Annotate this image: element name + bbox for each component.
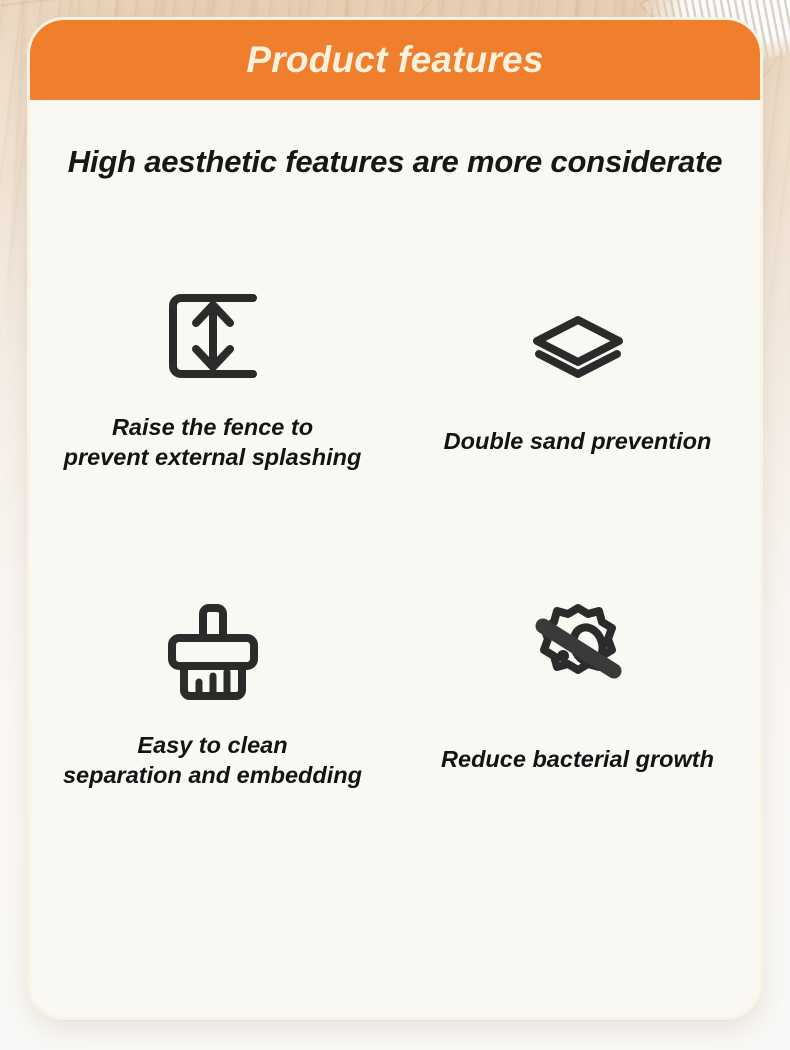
card-body: High aesthetic features are more conside…	[30, 100, 760, 1017]
feature-label: Raise the fence to prevent external spla…	[64, 412, 362, 472]
layers-stack-icon	[529, 312, 627, 382]
headline-text: High aesthetic features are more conside…	[30, 100, 760, 180]
feature-label: Reduce bacterial growth	[441, 744, 714, 774]
feature-item-double-sand-prevention: Double sand prevention	[395, 288, 760, 598]
page-title: Product features	[246, 39, 543, 81]
cleaning-brush-icon	[165, 602, 261, 702]
bacteria-blocked-icon	[526, 600, 630, 698]
feature-grid: Raise the fence to prevent external spla…	[30, 288, 760, 908]
product-features-card: Product features High aesthetic features…	[30, 20, 760, 1017]
card-header: Product features	[30, 20, 760, 100]
feature-item-raise-fence: Raise the fence to prevent external spla…	[30, 288, 395, 598]
feature-item-reduce-bacteria: Reduce bacterial growth	[395, 598, 760, 908]
feature-label: Double sand prevention	[444, 426, 712, 456]
height-expand-icon	[165, 290, 261, 382]
feature-item-easy-to-clean: Easy to clean separation and embedding	[30, 598, 395, 908]
feature-label: Easy to clean separation and embedding	[63, 730, 362, 790]
